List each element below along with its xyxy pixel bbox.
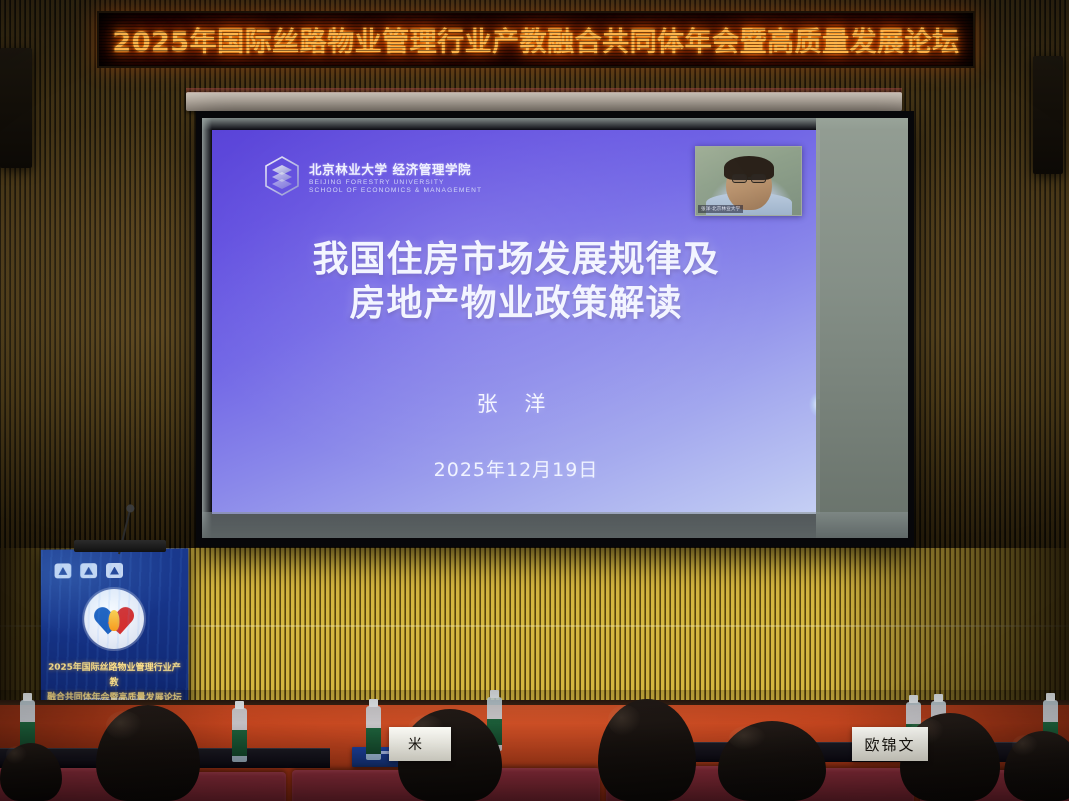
projection-edge-left xyxy=(202,118,212,538)
wall-speaker-left xyxy=(0,48,32,168)
conference-emblem-icon xyxy=(84,589,144,649)
water-bottle xyxy=(232,708,247,762)
slide-speaker-name: 张 洋 xyxy=(212,388,820,418)
presentation-slide: 北京林业大学 经济管理学院 BEIJING FORESTRY UNIVERSIT… xyxy=(212,130,820,514)
logo-english-university: BEIJING FORESTRY UNIVERSITY xyxy=(309,179,482,186)
sponsor-logo-1 xyxy=(55,563,72,578)
podium-sponsor-logos xyxy=(55,563,123,578)
wall-speaker-right xyxy=(1033,56,1063,174)
projection-edge-right xyxy=(816,118,908,538)
audience-member-head xyxy=(1004,731,1069,801)
auditorium-scene: 2025年国际丝路物业管理行业产教融合共同体年会暨高质量发展论坛 xyxy=(0,0,1069,801)
logo-text-block: 北京林业大学 经济管理学院 BEIJING FORESTRY UNIVERSIT… xyxy=(309,159,482,194)
water-bottle xyxy=(366,706,381,760)
name-card-label: 米 xyxy=(408,734,424,754)
podium-title-line-1: 2025年国际丝路物业管理行业产教 xyxy=(47,661,183,691)
slide-date: 2025年12月19日 xyxy=(212,455,820,482)
lectern-podium: 2025年国际丝路物业管理行业产教 融合共同体年会暨高质量发展论坛 广东碧桂园职… xyxy=(41,548,189,725)
projection-edge-top xyxy=(202,118,908,130)
slide-title-line-1: 我国住房市场发展规律及 xyxy=(212,238,820,282)
podium-desktop-surface xyxy=(74,540,166,552)
emblem-flame-shape xyxy=(109,609,120,630)
sponsor-logo-2 xyxy=(80,563,97,578)
led-banner: 2025年国际丝路物业管理行业产教融合共同体年会暨高质量发展论坛 xyxy=(97,11,975,68)
beijing-forestry-university-logo-icon xyxy=(264,156,300,196)
webcam-glasses-left-lens xyxy=(732,174,747,183)
desk-name-card: 米 xyxy=(389,727,451,761)
webcam-glasses-right-lens xyxy=(751,174,766,183)
projected-image-area: 北京林业大学 经济管理学院 BEIJING FORESTRY UNIVERSIT… xyxy=(202,118,908,538)
webcam-pip-window[interactable]: 张洋-北京林业大学 xyxy=(695,146,802,216)
projection-screen-valance xyxy=(186,92,902,111)
webcam-participant-label: 张洋-北京林业大学 xyxy=(698,205,743,213)
webcam-glasses-bridge xyxy=(748,177,752,179)
emblem-heart-shape xyxy=(97,603,131,634)
projection-edge-bottom xyxy=(202,512,908,538)
university-logo-block: 北京林业大学 经济管理学院 BEIJING FORESTRY UNIVERSIT… xyxy=(264,156,482,196)
name-card-label: 欧锦文 xyxy=(864,734,915,755)
logo-english-school: SCHOOL OF ECONOMICS & MANAGEMENT xyxy=(309,187,482,194)
slide-title-line-2: 房地产物业政策解读 xyxy=(212,282,820,326)
desk-name-card: 欧锦文 xyxy=(852,727,928,761)
sponsor-logo-3 xyxy=(106,563,123,578)
slide-title: 我国住房市场发展规律及 房地产物业政策解读 xyxy=(212,238,820,326)
led-banner-text: 2025年国际丝路物业管理行业产教融合共同体年会暨高质量发展论坛 xyxy=(112,20,959,59)
wall-shadow-right xyxy=(829,548,1069,720)
logo-chinese-name: 北京林业大学 经济管理学院 xyxy=(309,159,482,178)
